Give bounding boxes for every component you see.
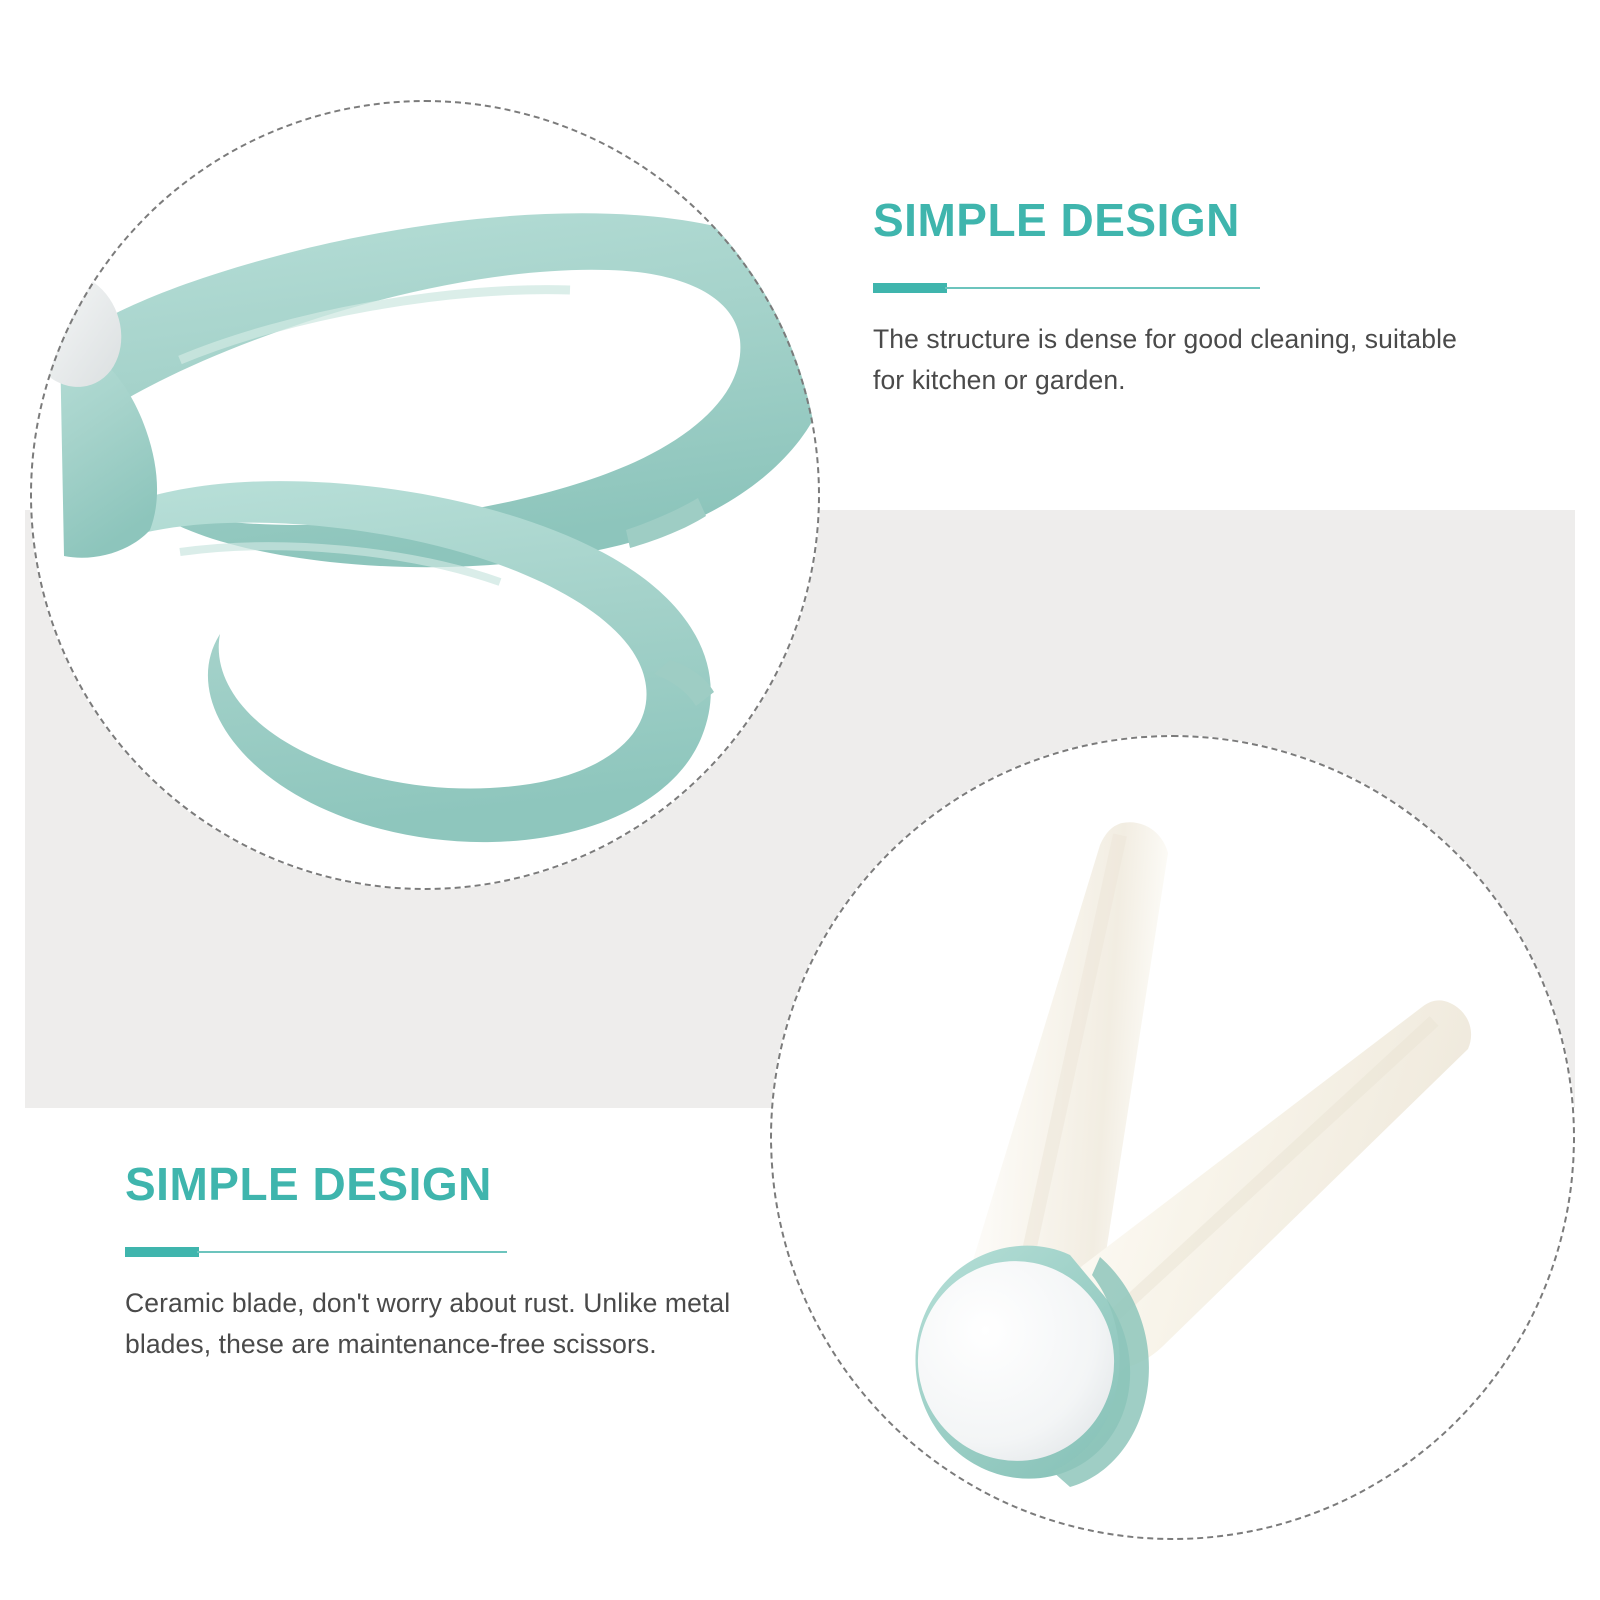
- feature-heading-top: SIMPLE DESIGN: [873, 196, 1473, 244]
- product-photo-blades: [770, 735, 1575, 1540]
- scissor-handles-illustration: [30, 100, 820, 890]
- feature-body-bottom: Ceramic blade, don't worry about rust. U…: [125, 1257, 745, 1364]
- divider-thin-segment: [945, 287, 1260, 289]
- divider-thin-segment: [197, 1251, 507, 1253]
- heading-divider-top: [873, 283, 1473, 293]
- feature-block-bottom: SIMPLE DESIGN Ceramic blade, don't worry…: [125, 1160, 745, 1364]
- feature-heading-bottom: SIMPLE DESIGN: [125, 1160, 745, 1208]
- feature-block-top: SIMPLE DESIGN The structure is dense for…: [873, 196, 1473, 400]
- heading-divider-bottom: [125, 1247, 745, 1257]
- divider-thick-segment: [873, 283, 947, 293]
- feature-body-top: The structure is dense for good cleaning…: [873, 293, 1473, 400]
- product-photo-handles: [30, 100, 820, 890]
- ceramic-blades-illustration: [770, 735, 1575, 1540]
- divider-thick-segment: [125, 1247, 199, 1257]
- product-feature-page: SIMPLE DESIGN The structure is dense for…: [0, 0, 1600, 1600]
